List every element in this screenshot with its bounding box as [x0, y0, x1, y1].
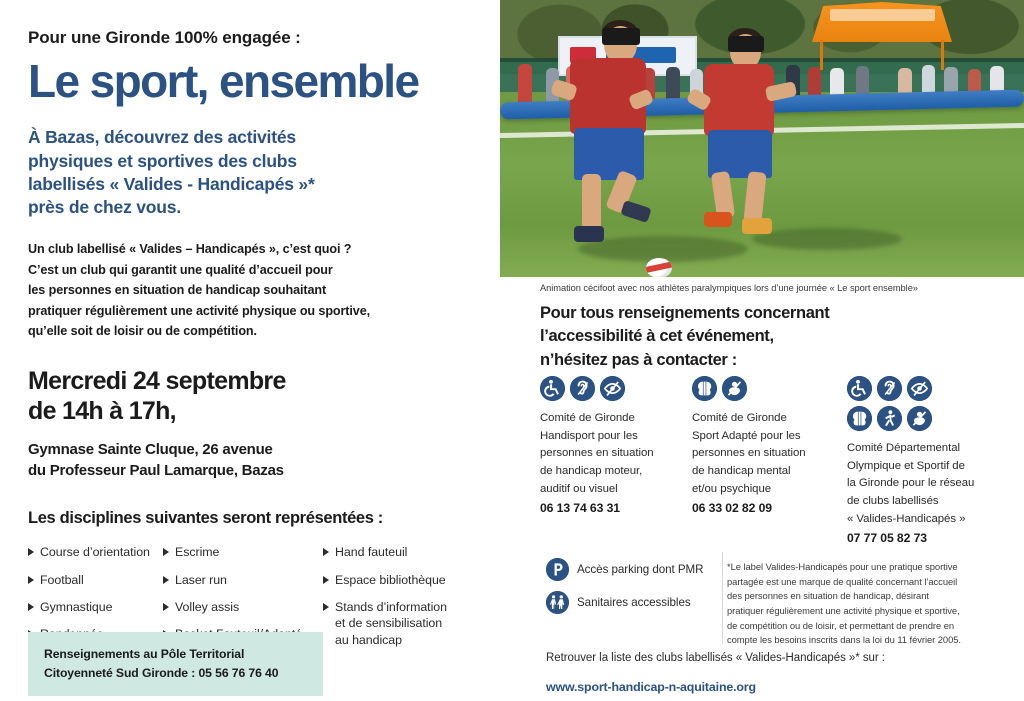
explanation-line: C’est un club qui garantit une qualité d…: [28, 260, 474, 280]
discipline-label: Stands d’information et de sensibilisati…: [335, 599, 447, 648]
contact-heading-line: l’accessibilité à cet événement,: [540, 325, 1000, 348]
list-item: Course d’orientation: [28, 544, 163, 560]
explanation-line: pratiquer régulièrement une activité phy…: [28, 301, 474, 321]
contact-block-handisport: Comité de Gironde Handisport pour les pe…: [540, 376, 692, 545]
discipline-label: Course d’orientation: [40, 544, 150, 560]
hearing-icon: [877, 376, 902, 401]
photo-tent-sign: [830, 9, 935, 21]
contacts-section: Comité de Gironde Handisport pour les pe…: [540, 376, 1024, 545]
player-shoe: [704, 212, 732, 227]
hearing-icon: [570, 376, 595, 401]
list-item: Laser run: [163, 572, 323, 588]
lede-line: labellisés « Valides - Handicapés »*: [28, 173, 474, 196]
contact-line: Comité Départemental: [847, 440, 1024, 458]
contact-line: Comité de Gironde: [540, 410, 692, 428]
contact-line: Handisport pour les: [540, 428, 692, 446]
contact-block-sport-adapte: Comité de Gironde Sport Adapté pour les …: [692, 376, 847, 545]
player-shorts: [708, 130, 772, 178]
event-date-line: Mercredi 24 septembre: [28, 367, 474, 396]
discipline-label: Football: [40, 572, 84, 588]
player-leg: [582, 174, 601, 230]
contact-line: de handicap moteur,: [540, 463, 692, 481]
contact-description: Comité de Gironde Handisport pour les pe…: [540, 410, 692, 498]
venue-line: du Professeur Paul Lamarque, Bazas: [28, 461, 474, 482]
eyebrow-text: Pour une Gironde 100% engagée :: [28, 28, 474, 48]
contact-phone[interactable]: 06 33 02 82 09: [692, 501, 847, 515]
access-row-parking: Accès parking dont PMR: [546, 558, 726, 581]
contact-line: Olympique et Sportif de: [847, 458, 1024, 476]
triangle-bullet-icon: [28, 603, 34, 611]
lede-line: physiques et sportives des clubs: [28, 150, 474, 173]
parking-icon: [546, 558, 569, 581]
contact-icons: [540, 376, 692, 401]
list-item: Football: [28, 572, 163, 588]
contact-info-box: Renseignements au Pôle Territorial Citoy…: [28, 632, 323, 696]
player-blindfold-icon: [728, 36, 764, 52]
access-label: Sanitaires accessibles: [577, 596, 691, 609]
photo-orange-tent: [812, 2, 952, 42]
footnote-line: compte les besoins inscrits dans la loi …: [727, 633, 1017, 648]
psychic-icon: [907, 406, 932, 431]
footnote-line: pratiquer régulièrement une activité phy…: [727, 604, 1017, 619]
discipline-label: Hand fauteuil: [335, 544, 407, 560]
disciplines-column-3: Hand fauteuil Espace bibliothèque Stands…: [323, 544, 447, 659]
triangle-bullet-icon: [28, 548, 34, 556]
contact-icons: [847, 376, 937, 431]
infobox-line: Renseignements au Pôle Territorial: [44, 645, 307, 664]
poster: Pour une Gironde 100% engagée : Le sport…: [0, 0, 1024, 701]
contact-description: Comité de Gironde Sport Adapté pour les …: [692, 410, 847, 498]
label-footnote: *Le label Valides-Handicapés pour une pr…: [727, 560, 1017, 648]
wheelchair-icon: [540, 376, 565, 401]
infobox-line: Citoyenneté Sud Gironde : 05 56 76 76 40: [44, 664, 307, 683]
contact-line: « Valides-Handicapés »: [847, 511, 1024, 529]
triangle-bullet-icon: [28, 576, 34, 584]
contact-line: auditif ou visuel: [540, 481, 692, 499]
triangle-bullet-icon: [163, 576, 169, 584]
list-item: Stands d’information et de sensibilisati…: [323, 599, 447, 648]
list-item: Hand fauteuil: [323, 544, 447, 560]
page-title: Le sport, ensemble: [28, 58, 474, 104]
triangle-bullet-icon: [323, 576, 329, 584]
website-link[interactable]: www.sport-handicap-n-aquitaine.org: [546, 680, 756, 694]
triangle-bullet-icon: [163, 548, 169, 556]
access-row-restroom: Sanitaires accessibles: [546, 591, 726, 614]
explanation-line: qu’elle soit de loisir ou de compétition…: [28, 321, 474, 341]
footnote-line: des personnes en situation de handicap, …: [727, 589, 1017, 604]
discipline-label: Espace bibliothèque: [335, 572, 446, 588]
discipline-label: Gymnastique: [40, 599, 112, 615]
discipline-label: Escrime: [175, 544, 219, 560]
footnote-line: de compétition ou de loisir, et permetta…: [727, 619, 1017, 634]
contact-phone[interactable]: 06 13 74 63 31: [540, 501, 692, 515]
footnote-line: partagée est une marque de qualité conce…: [727, 575, 1017, 590]
contact-block-cdos: Comité Départemental Olympique et Sporti…: [847, 376, 1024, 545]
event-date: Mercredi 24 septembre de 14h à 17h,: [28, 367, 474, 426]
contact-icons: [692, 376, 847, 401]
contact-phone[interactable]: 07 77 05 82 73: [847, 531, 1024, 545]
disciplines-heading: Les disciplines suivantes seront représe…: [28, 509, 474, 528]
triangle-bullet-icon: [323, 548, 329, 556]
psychic-icon: [722, 376, 747, 401]
player-shirt: [704, 64, 774, 136]
mobility-icon: [877, 406, 902, 431]
contact-line: et/ou psychique: [692, 481, 847, 499]
lede-line: À Bazas, découvrez des activités: [28, 126, 474, 149]
access-label: Accès parking dont PMR: [577, 563, 704, 576]
contact-line: personnes en situation: [692, 445, 847, 463]
accessibility-services: Accès parking dont PMR Sanitaires access…: [546, 558, 726, 624]
triangle-bullet-icon: [163, 603, 169, 611]
contact-line: la Gironde pour le réseau: [847, 475, 1024, 493]
event-venue: Gymnase Sainte Cluque, 26 avenue du Prof…: [28, 440, 474, 481]
discipline-label: Volley assis: [175, 599, 239, 615]
visual-icon: [600, 376, 625, 401]
vertical-divider: [722, 552, 723, 644]
list-item: Escrime: [163, 544, 323, 560]
player-blindfold-icon: [602, 28, 640, 45]
contact-heading-line: n’hésitez pas à contacter :: [540, 349, 1000, 372]
restroom-icon: [546, 591, 569, 614]
venue-line: Gymnase Sainte Cluque, 26 avenue: [28, 440, 474, 461]
lede-paragraph: À Bazas, découvrez des activités physiqu…: [28, 126, 474, 219]
lede-line: près de chez vous.: [28, 196, 474, 219]
visual-icon: [907, 376, 932, 401]
list-item: Gymnastique: [28, 599, 163, 615]
contact-line: de clubs labellisés: [847, 493, 1024, 511]
triangle-bullet-icon: [323, 603, 329, 611]
contact-line: de handicap mental: [692, 463, 847, 481]
event-photo: [500, 0, 1024, 277]
player-shoe: [742, 218, 772, 234]
contact-heading-line: Pour tous renseignements concernant: [540, 302, 1000, 325]
mental-icon: [692, 376, 717, 401]
player-shoe: [574, 226, 604, 242]
contact-heading: Pour tous renseignements concernant l’ac…: [540, 302, 1000, 372]
contact-line: personnes en situation: [540, 445, 692, 463]
player-shorts: [574, 128, 644, 180]
photo-ball: [646, 258, 672, 277]
event-time-line: de 14h à 17h,: [28, 397, 474, 426]
explanation-line: Un club labellisé « Valides – Handicapés…: [28, 239, 474, 259]
list-item: Volley assis: [163, 599, 323, 615]
explanation-line: les personnes en situation de handicap s…: [28, 280, 474, 300]
contact-description: Comité Départemental Olympique et Sporti…: [847, 440, 1024, 528]
photo-caption: Animation cécifoot avec nos athlètes par…: [540, 283, 1020, 293]
left-column: Pour une Gironde 100% engagée : Le sport…: [0, 0, 500, 701]
explanation-paragraph: Un club labellisé « Valides – Handicapés…: [28, 239, 474, 341]
photo-shadow: [752, 228, 902, 250]
find-clubs-text: Retrouver la liste des clubs labellisés …: [546, 652, 885, 664]
mental-icon: [847, 406, 872, 431]
discipline-label: Laser run: [175, 572, 227, 588]
list-item: Espace bibliothèque: [323, 572, 447, 588]
contact-line: Sport Adapté pour les: [692, 428, 847, 446]
footnote-line: *Le label Valides-Handicapés pour une pr…: [727, 560, 1017, 575]
contact-line: Comité de Gironde: [692, 410, 847, 428]
wheelchair-icon: [847, 376, 872, 401]
